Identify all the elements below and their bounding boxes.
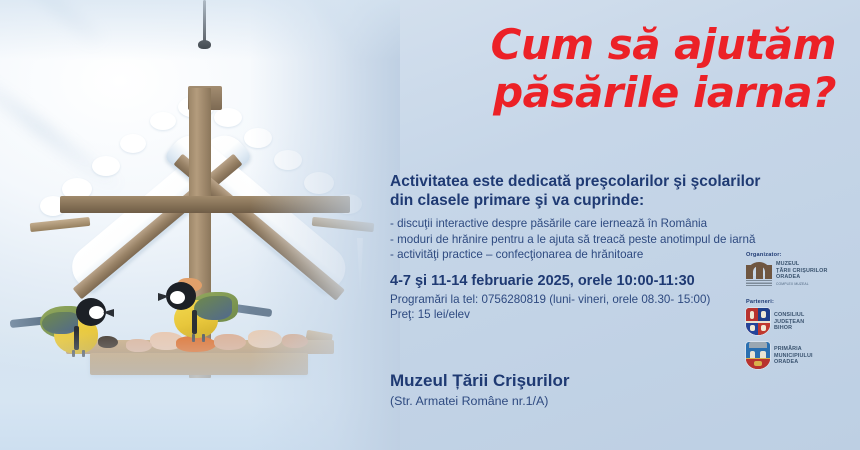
partners-caption: Parteneri:	[746, 299, 858, 305]
poster-root: Cum să ajutăm păsările iarna? Activitate…	[0, 0, 860, 450]
list-item: - moduri de hrănire pentru a le ajuta să…	[390, 232, 840, 248]
snow-blob	[92, 156, 120, 176]
lead-line-1: Activitatea este dedicată preşcolarilor …	[390, 172, 836, 191]
museum-m-lines	[746, 280, 772, 286]
organizer-subtitle: COMPLEX MUZEAL	[776, 281, 828, 288]
partner-logo-consiliul-judetean: CONSILIUL JUDEȚEAN BIHOR	[746, 308, 858, 335]
venue-name: Muzeul Țării Crişurilor	[390, 370, 569, 391]
partner-1-line1: CONSILIUL	[774, 312, 804, 319]
crest-charge	[761, 325, 766, 331]
organizer-name-line2: ȚĂRII CRIȘURILOR	[776, 268, 828, 275]
snow-blob	[120, 134, 146, 153]
lead-paragraph: Activitatea este dedicată preşcolarilor …	[390, 172, 836, 210]
partner-2-text: PRIMĂRIA MUNICIPIULUI ORADEA	[774, 346, 813, 366]
partner-1-text: CONSILIUL JUDEȚEAN BIHOR	[774, 312, 804, 332]
photo-right-fade	[250, 0, 400, 450]
organizer-name-line1: MUZEUL	[776, 261, 828, 268]
partner-1-line3: BIHOR	[774, 325, 804, 332]
organizer-name-line3: ORADEA	[776, 274, 828, 281]
lead-line-2: din clasele primare şi va cuprinde:	[390, 191, 836, 210]
organizer-logo-text: MUZEUL ȚĂRII CRIȘURILOR ORADEA COMPLEX M…	[776, 261, 828, 287]
snow-blob	[214, 108, 242, 127]
partner-2-line2: MUNICIPIULUI	[774, 353, 813, 360]
logo-spacer	[746, 335, 858, 342]
organizer-caption: Organizator:	[746, 252, 858, 258]
organizer-logo: MUZEUL ȚĂRII CRIȘURILOR ORADEA COMPLEX M…	[746, 261, 858, 287]
poster-content: Cum să ajutăm păsările iarna? Activitate…	[388, 0, 860, 450]
bird-cheek-patch	[89, 306, 104, 319]
crest-crown	[749, 342, 767, 348]
museum-m-leg	[746, 265, 753, 279]
bird-feeder-photo	[0, 0, 400, 450]
crest-charge	[754, 361, 762, 366]
logo-column: Organizator: MUZEUL ȚĂRII CRIȘURILOR ORA…	[746, 252, 858, 369]
booking-phone: Programări la tel: 0756280819 (luni- vin…	[390, 292, 710, 307]
bird-wing	[194, 296, 232, 320]
photo-top-fade	[0, 0, 400, 60]
partner-logo-primaria-oradea: PRIMĂRIA MUNICIPIULUI ORADEA	[746, 342, 858, 369]
crest-fess	[746, 321, 770, 323]
logo-spacer	[746, 287, 858, 299]
partner-2-line1: PRIMĂRIA	[774, 346, 813, 353]
poster-title-line1: Cum să ajutăm	[388, 22, 836, 68]
partner-1-line2: JUDEȚEAN	[774, 319, 804, 326]
museum-m-leg	[765, 265, 772, 279]
snow-blob	[150, 112, 176, 130]
event-dates: 4-7 şi 11-14 februarie 2025, orele 10:00…	[390, 272, 695, 290]
poster-title: Cum să ajutăm păsările iarna?	[388, 22, 836, 116]
list-item: - discuţii interactive despre păsările c…	[390, 216, 840, 232]
bird-cheek-patch	[170, 291, 185, 304]
venue-address: (Str. Armatei Române nr.1/A)	[390, 393, 548, 409]
crest-charge	[750, 325, 755, 331]
museum-m-icon	[746, 262, 772, 286]
partner-2-line3: ORADEA	[774, 359, 813, 366]
crest-charge	[750, 311, 754, 319]
oradea-city-crest-icon	[746, 342, 770, 369]
bihor-county-crest-icon	[746, 308, 770, 335]
poster-title-line2: păsările iarna?	[388, 70, 836, 116]
crest-charge	[761, 311, 766, 318]
event-price: Preţ: 15 lei/elev	[390, 307, 470, 322]
museum-m-leg	[756, 265, 763, 279]
